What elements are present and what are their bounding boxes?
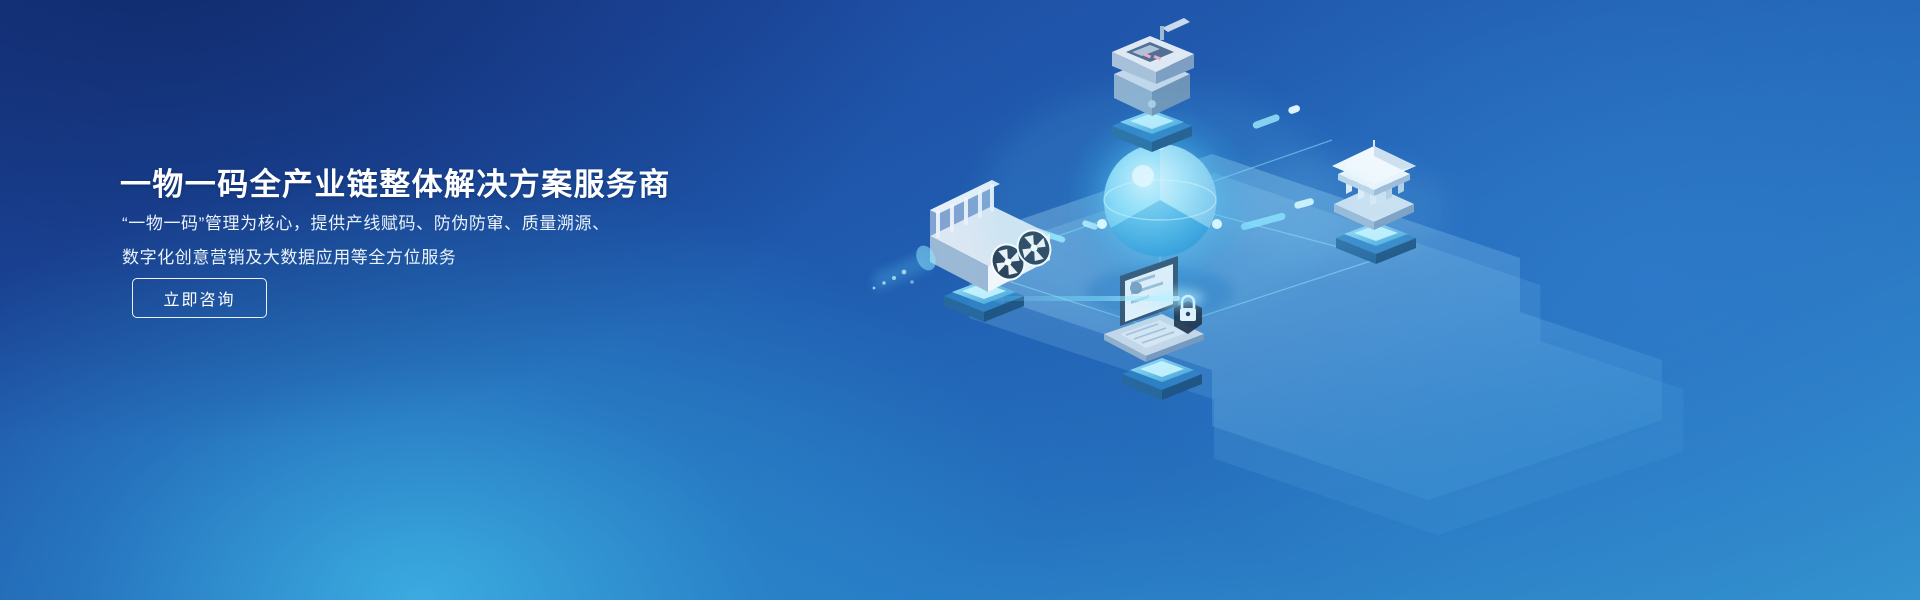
hero-content: 一物一码全产业链整体解决方案服务商 “一物一码”管理为核心，提供产线赋码、防伪防… — [120, 0, 820, 600]
consult-now-button[interactable]: 立即咨询 — [132, 278, 267, 318]
subtitle-line-1: “一物一码”管理为核心，提供产线赋码、防伪防窜、质量溯源、 — [122, 209, 610, 234]
subtitle-line-2: 数字化创意营销及大数据应用等全方位服务 — [122, 243, 456, 268]
page-title: 一物一码全产业链整体解决方案服务商 — [120, 159, 671, 204]
hero-illustration — [860, 0, 1920, 600]
hero-banner: 一物一码全产业链整体解决方案服务商 “一物一码”管理为核心，提供产线赋码、防伪防… — [0, 0, 1920, 600]
